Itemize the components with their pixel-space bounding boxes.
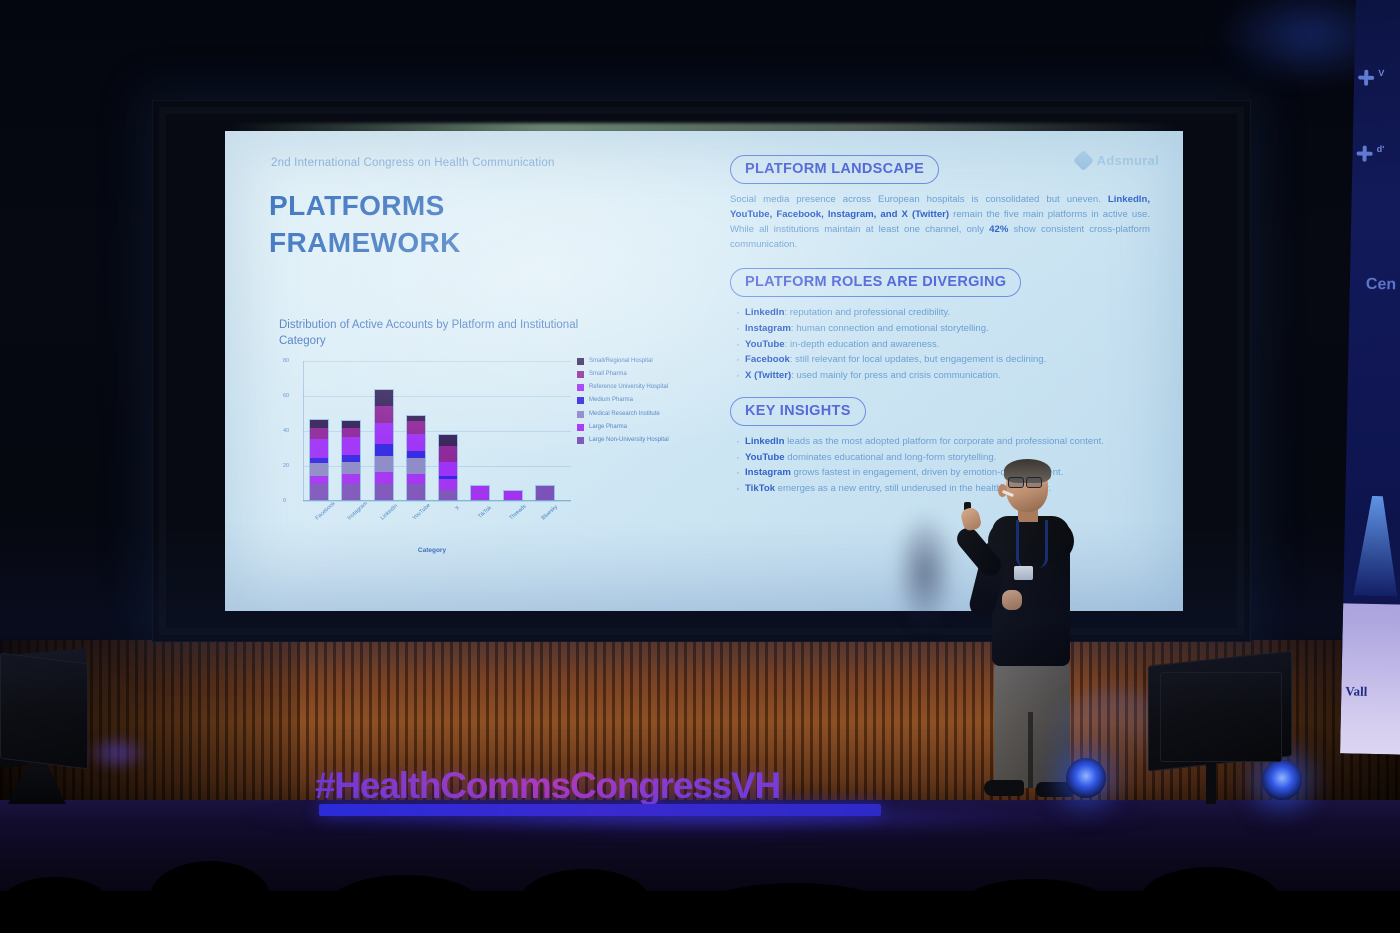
bar-segment <box>342 484 360 500</box>
legend-label: Large Non-University Hospital <box>589 436 669 444</box>
audience-silhouette <box>0 877 110 933</box>
legend-label: Reference University Hospital <box>589 383 668 391</box>
list-item: Facebook: still relevant for local updat… <box>734 353 1150 368</box>
slide-right-column: PLATFORM LANDSCAPE Social media presence… <box>730 155 1150 511</box>
banner-org-label-1: V <box>1378 68 1400 79</box>
x-tick-label: X <box>444 505 484 547</box>
y-tick-label: 60 <box>283 393 289 399</box>
legend-item: Medium Pharma <box>577 396 699 404</box>
section-platform-roles: PLATFORM ROLES ARE DIVERGING LinkedIn: r… <box>730 268 1150 383</box>
audience-silhouette <box>150 861 270 933</box>
bar-segment <box>342 474 360 485</box>
legend-swatch <box>577 424 584 431</box>
bar-segment <box>310 420 328 429</box>
banner-graphic-cone <box>1353 496 1399 597</box>
presenter-lanyard <box>1016 520 1048 568</box>
bar-segment <box>536 486 554 500</box>
bar-segment <box>342 421 360 428</box>
legend-label: Medium Pharma <box>589 396 633 404</box>
presenter-glasses <box>1008 477 1044 487</box>
audience-silhouette <box>330 875 480 933</box>
section-heading-label: PLATFORM LANDSCAPE <box>745 161 924 177</box>
bar-segment <box>407 484 425 500</box>
slide-title-line1: PLATFORMS <box>269 187 461 224</box>
y-tick-label: 80 <box>283 358 289 364</box>
bar-threads <box>504 491 522 500</box>
bar-segment <box>310 476 328 485</box>
audience-silhouette <box>700 883 890 933</box>
legend-label: Small/Regional Hospital <box>589 357 653 365</box>
legend-item: Small/Regional Hospital <box>577 357 699 365</box>
y-tick-label: 20 <box>283 463 289 469</box>
bar-segment <box>375 406 393 424</box>
legend-label: Small Pharma <box>589 370 627 378</box>
legend-item: Medical Research Institute <box>577 410 699 418</box>
bar-linkedin <box>375 390 393 500</box>
legend-item: Reference University Hospital <box>577 383 699 391</box>
bar-segment <box>471 486 489 500</box>
legend-swatch <box>577 384 584 391</box>
chart-axes: 020406080 <box>303 361 561 501</box>
bar-segment <box>439 462 457 476</box>
y-tick-label: 40 <box>283 428 289 434</box>
cross-logo-icon <box>1356 146 1372 162</box>
chart-x-tick-labels: FacebookInstagramLinkedInYouTubeXTikTokT… <box>303 505 561 545</box>
bar-facebook <box>310 420 328 501</box>
bar-segment <box>439 446 457 462</box>
list-item: X (Twitter): used mainly for press and c… <box>734 369 1150 384</box>
gridline <box>303 501 571 502</box>
legend-swatch <box>577 411 584 418</box>
bar-segment <box>342 437 360 455</box>
bar-segment <box>342 455 360 462</box>
legend-swatch <box>577 371 584 378</box>
x-tick-label: TikTok <box>476 505 516 547</box>
bar-segment <box>407 451 425 458</box>
confidence-monitor-back <box>1160 672 1282 762</box>
bar-x <box>439 435 457 500</box>
presenter-leg-gap <box>1028 712 1033 788</box>
x-tick-label: Bluesky <box>540 505 580 547</box>
legend-item: Large Non-University Hospital <box>577 436 699 444</box>
x-tick-label: Threads <box>508 505 548 547</box>
hashtag-base-light <box>319 804 881 816</box>
bar-segment <box>375 444 393 456</box>
bar-bluesky <box>536 486 554 500</box>
hashtag-stage-sign: #HealthCommsCongressVH <box>315 760 885 816</box>
section-heading-pill: KEY INSIGHTS <box>730 397 866 426</box>
bar-segment <box>375 423 393 444</box>
bar-segment <box>310 484 328 500</box>
bar-segment <box>310 463 328 475</box>
chart-bars <box>303 361 561 500</box>
x-tick-label: YouTube <box>411 505 451 547</box>
legend-item: Large Pharma <box>577 423 699 431</box>
chart-legend: Small/Regional HospitalSmall PharmaRefer… <box>577 357 699 449</box>
bar-segment <box>407 458 425 474</box>
section-heading-pill: PLATFORM LANDSCAPE <box>730 155 939 184</box>
uplight-fixture-right <box>1262 760 1302 800</box>
section-platform-landscape: PLATFORM LANDSCAPE Social media presence… <box>730 155 1150 252</box>
y-tick-label: 0 <box>283 498 286 504</box>
presenter-hand-right <box>1002 590 1022 610</box>
legend-swatch <box>577 437 584 444</box>
bar-segment <box>504 491 522 500</box>
section-heading-label: PLATFORM ROLES ARE DIVERGING <box>745 274 1006 290</box>
audience-silhouette <box>520 869 650 933</box>
bar-segment <box>407 434 425 452</box>
cross-logo-icon <box>1358 70 1374 86</box>
chart-x-axis <box>303 500 571 501</box>
bar-segment <box>375 456 393 472</box>
platform-landscape-paragraph: Social media presence across European ho… <box>730 193 1150 252</box>
list-item: LinkedIn: reputation and professional cr… <box>734 306 1150 321</box>
confidence-monitor-left <box>0 653 88 770</box>
bar-segment <box>439 479 457 490</box>
audience-silhouette <box>960 879 1110 933</box>
bar-segment <box>375 472 393 484</box>
x-tick-label: Facebook <box>315 505 355 547</box>
platform-roles-list: LinkedIn: reputation and professional cr… <box>730 306 1150 383</box>
banner-bottom-label: Vall <box>1345 683 1367 699</box>
bar-segment <box>310 428 328 439</box>
x-tick-label: LinkedIn <box>379 505 419 547</box>
list-item: YouTube: in-depth education and awarenes… <box>734 338 1150 353</box>
bar-segment <box>439 435 457 446</box>
bar-segment <box>407 421 425 433</box>
legend-label: Medical Research Institute <box>589 410 660 418</box>
bar-youtube <box>407 416 425 500</box>
slide-title-line2: FRAMEWORK <box>269 224 461 261</box>
bar-tiktok <box>471 486 489 500</box>
stacked-bar-chart: Distribution of Active Accounts by Platf… <box>277 317 697 567</box>
legend-item: Small Pharma <box>577 370 699 378</box>
bar-segment <box>342 462 360 474</box>
legend-swatch <box>577 358 584 365</box>
bar-segment <box>439 490 457 501</box>
banner-center-label: Cen <box>1366 276 1400 295</box>
slide-title: PLATFORMS FRAMEWORK <box>269 187 461 261</box>
chart-plot-area: 020406080 FacebookInstagramLinkedInYouTu… <box>277 357 697 557</box>
bar-segment <box>375 484 393 500</box>
audience-silhouette <box>1140 867 1280 933</box>
x-tick-label: Instagram <box>347 505 387 547</box>
uplight-fixture-center <box>1066 758 1106 798</box>
chart-title: Distribution of Active Accounts by Platf… <box>279 317 579 349</box>
banner-bottom-panel: Vall <box>1340 603 1400 754</box>
bar-segment <box>342 428 360 437</box>
presenter-shadow <box>880 482 970 662</box>
conference-stage-photo: 2nd International Congress on Health Com… <box>0 0 1400 933</box>
chart-x-axis-title: Category <box>303 547 561 554</box>
legend-label: Large Pharma <box>589 423 627 431</box>
banner-org-label-2: d' <box>1377 144 1400 155</box>
bar-segment <box>375 390 393 406</box>
bar-instagram <box>342 421 360 500</box>
list-item: Instagram: human connection and emotiona… <box>734 322 1150 337</box>
list-item: LinkedIn leads as the most adopted platf… <box>734 435 1150 450</box>
presenter-shoe-left <box>984 780 1024 796</box>
section-heading-label: KEY INSIGHTS <box>745 403 851 419</box>
congress-name-label: 2nd International Congress on Health Com… <box>271 157 555 169</box>
bar-segment <box>407 474 425 485</box>
section-heading-pill: PLATFORM ROLES ARE DIVERGING <box>730 268 1021 297</box>
legend-swatch <box>577 397 584 404</box>
bar-segment <box>310 439 328 458</box>
presenter-badge <box>1014 566 1033 580</box>
